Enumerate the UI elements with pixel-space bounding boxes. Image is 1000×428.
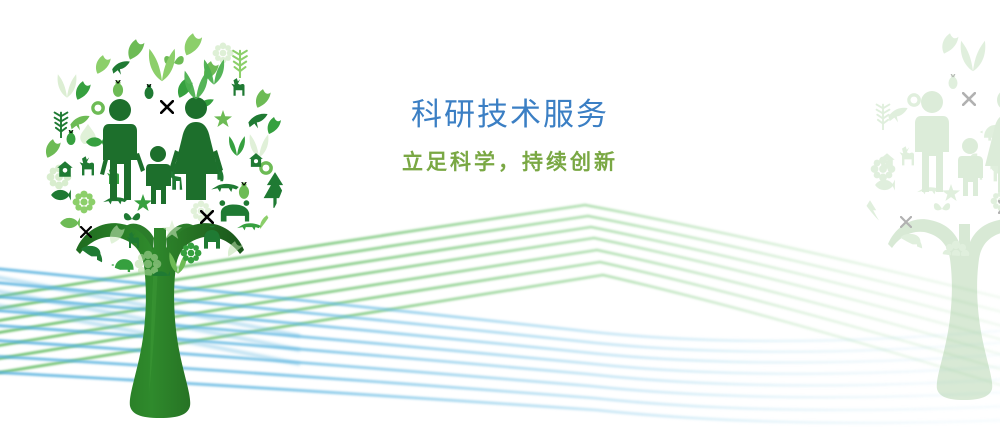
page-title: 科研技术服务 <box>350 96 670 135</box>
watermark-trunk <box>888 219 1000 400</box>
tree-trunk <box>76 223 244 418</box>
promotional-banner: 科研技术服务 立足科学，持续创新 <box>0 0 1000 428</box>
watermark-family-silhouette <box>915 89 1000 196</box>
banner-text-block: 科研技术服务 立足科学，持续创新 <box>350 96 670 176</box>
tree-of-life-watermark <box>846 10 1000 410</box>
page-subtitle: 立足科学，持续创新 <box>350 149 670 176</box>
tree-of-life-illustration <box>14 14 314 428</box>
